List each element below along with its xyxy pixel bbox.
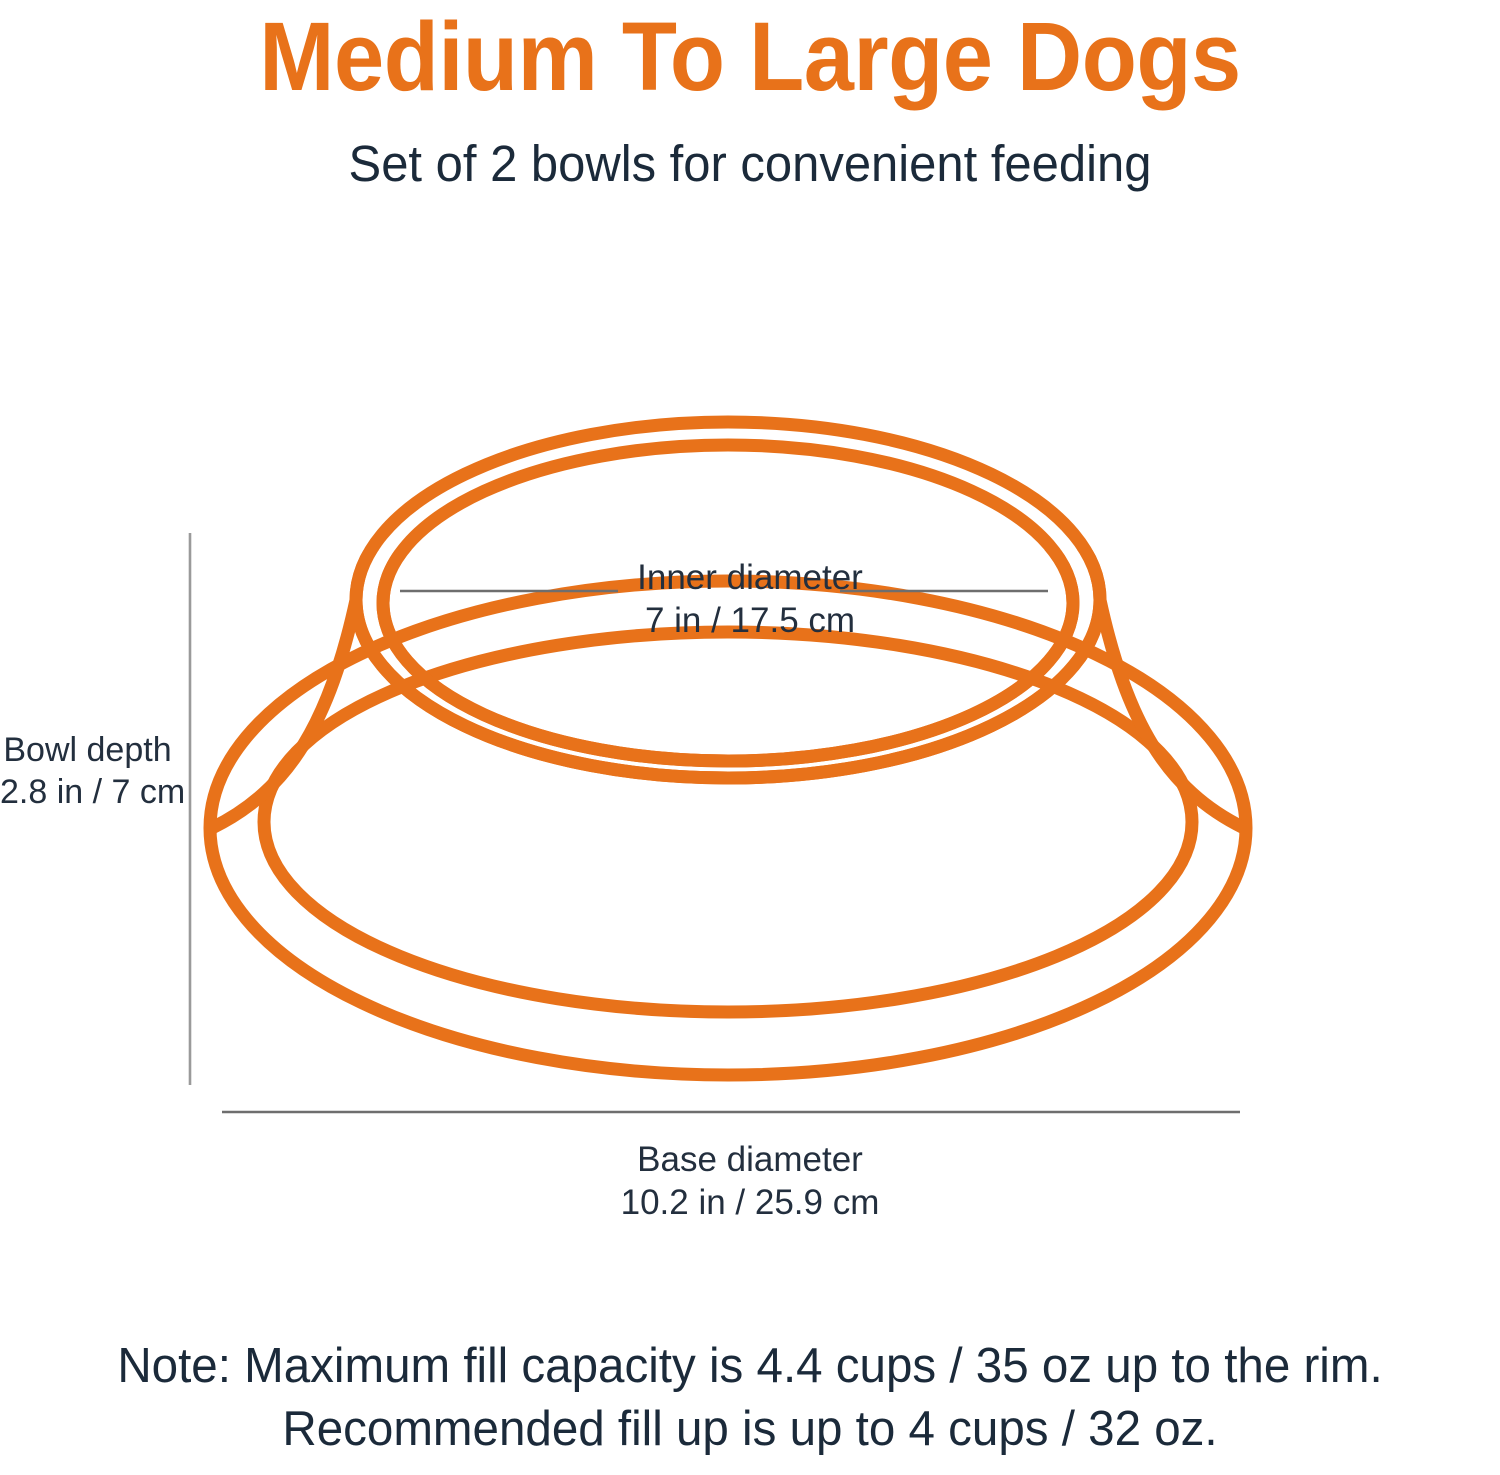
product-infographic: Medium To Large Dogs Set of 2 bowls for … [0,0,1500,1475]
base-diameter-label-value: 10.2 in / 25.9 cm [0,1181,1500,1224]
base-ellipse-top-mask [0,250,1500,550]
base-diameter-label-text: Base diameter [0,1138,1500,1181]
page-title: Medium To Large Dogs [53,0,1448,108]
inner-diameter-label-text: Inner diameter [0,556,1500,599]
base-outline [210,581,1246,1075]
bowl-diagram: Inner diameter 7 in / 17.5 cm Bowl depth… [0,250,1500,1260]
inner-diameter-label-value: 7 in / 17.5 cm [0,599,1500,642]
bowl-depth-label-text: Bowl depth [0,729,175,771]
capacity-note-line-1: Note: Maximum fill capacity is 4.4 cups … [23,1335,1478,1398]
base-outer-ellipse [210,581,1246,1075]
inner-diameter-label: Inner diameter 7 in / 17.5 cm [0,556,1500,643]
capacity-note-line-2: Recommended fill up is up to 4 cups / 32… [23,1398,1478,1461]
bowl-illustration-svg [0,250,1500,1260]
page-subtitle: Set of 2 bowls for convenient feeding [30,108,1470,192]
header: Medium To Large Dogs Set of 2 bowls for … [0,0,1500,192]
bowl-depth-label-value: 2.8 in / 7 cm [0,771,175,813]
base-diameter-label: Base diameter 10.2 in / 25.9 cm [0,1138,1500,1225]
capacity-note: Note: Maximum fill capacity is 4.4 cups … [23,1335,1478,1460]
bowl-depth-label: Bowl depth 2.8 in / 7 cm [0,729,175,813]
